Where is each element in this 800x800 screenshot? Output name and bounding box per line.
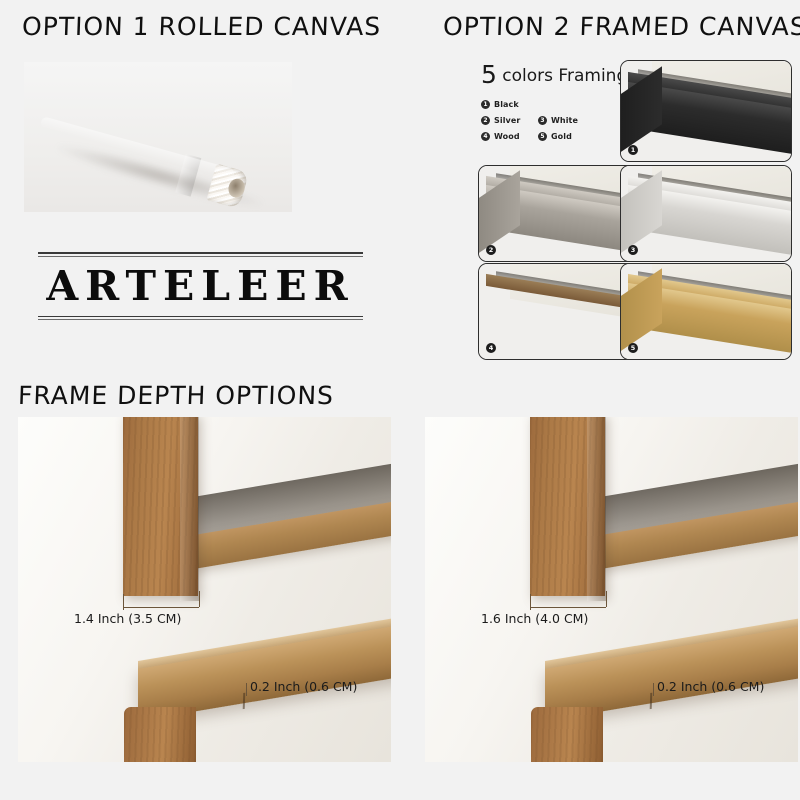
frame-side-face: [478, 268, 520, 353]
brand-name: ARTELEER: [38, 266, 363, 307]
frame-lower-post: [531, 707, 603, 762]
swatch-number-badge: 1: [628, 145, 638, 155]
frame-lower-post: [124, 707, 196, 762]
edge-dim-tick: [653, 683, 654, 696]
logo-rule-bottom-thin: [38, 319, 363, 320]
frame-depth-photo-left: 1.4 Inch (3.5 CM) 0.2 Inch (0.6 CM): [18, 417, 391, 762]
shipping-tube: [30, 112, 239, 209]
frame-swatch-gold[interactable]: 5: [620, 263, 792, 360]
brand-logo-block: ARTELEER: [38, 252, 363, 320]
frame-depth-heading: FRAME DEPTH OPTIONS: [17, 381, 334, 410]
frame-post-edge: [180, 417, 199, 601]
frame-swatch-white[interactable]: 3: [620, 165, 792, 262]
frame-swatch-black[interactable]: 1: [620, 60, 792, 162]
frame-corner-illustration: [621, 264, 791, 359]
frame-post-bottom-face: [525, 592, 605, 608]
rolled-canvas-photo: [24, 62, 292, 212]
frame-side-face: [478, 170, 520, 255]
frame-side-face: [620, 66, 662, 154]
dim-tick-right: [199, 591, 200, 607]
dim-line-depth: [530, 607, 606, 608]
canvas-background: [18, 417, 391, 762]
option1-heading: OPTION 1 ROLLED CANVAS: [21, 12, 381, 41]
dim-tick-right: [606, 591, 607, 607]
swatch-number-badge: 5: [628, 343, 638, 353]
frame-swatch-grid: 1 2 3: [470, 60, 790, 360]
depth-dimension-label: 1.6 Inch (4.0 CM): [481, 611, 588, 626]
depth-dimension-label: 1.4 Inch (3.5 CM): [74, 611, 181, 626]
frame-post-edge: [587, 417, 606, 601]
edge-dimension-label: 0.2 Inch (0.6 CM): [657, 679, 764, 694]
option2-heading: OPTION 2 FRAMED CANVAS: [442, 12, 800, 41]
frame-corner-illustration: [621, 61, 791, 161]
frame-side-face: [620, 170, 662, 255]
dim-line-depth: [123, 607, 199, 608]
logo-rule-bottom: [38, 316, 363, 318]
swatch-number-badge: 2: [486, 245, 496, 255]
frame-post-bottom-face: [118, 592, 198, 608]
canvas-background: [425, 417, 798, 762]
logo-rule-top: [38, 252, 363, 254]
infographic-page: OPTION 1 ROLLED CANVAS OPTION 2 FRAMED C…: [0, 0, 800, 800]
logo-rule-top-thin: [38, 256, 363, 257]
edge-dim-tick: [246, 683, 247, 696]
edge-dimension-label: 0.2 Inch (0.6 CM): [250, 679, 357, 694]
swatch-number-badge: 4: [486, 343, 496, 353]
frame-depth-photo-right: 1.6 Inch (4.0 CM) 0.2 Inch (0.6 CM): [425, 417, 798, 762]
frame-corner-illustration: [621, 166, 791, 261]
swatch-number-badge: 3: [628, 245, 638, 255]
frame-side-face: [620, 268, 662, 353]
